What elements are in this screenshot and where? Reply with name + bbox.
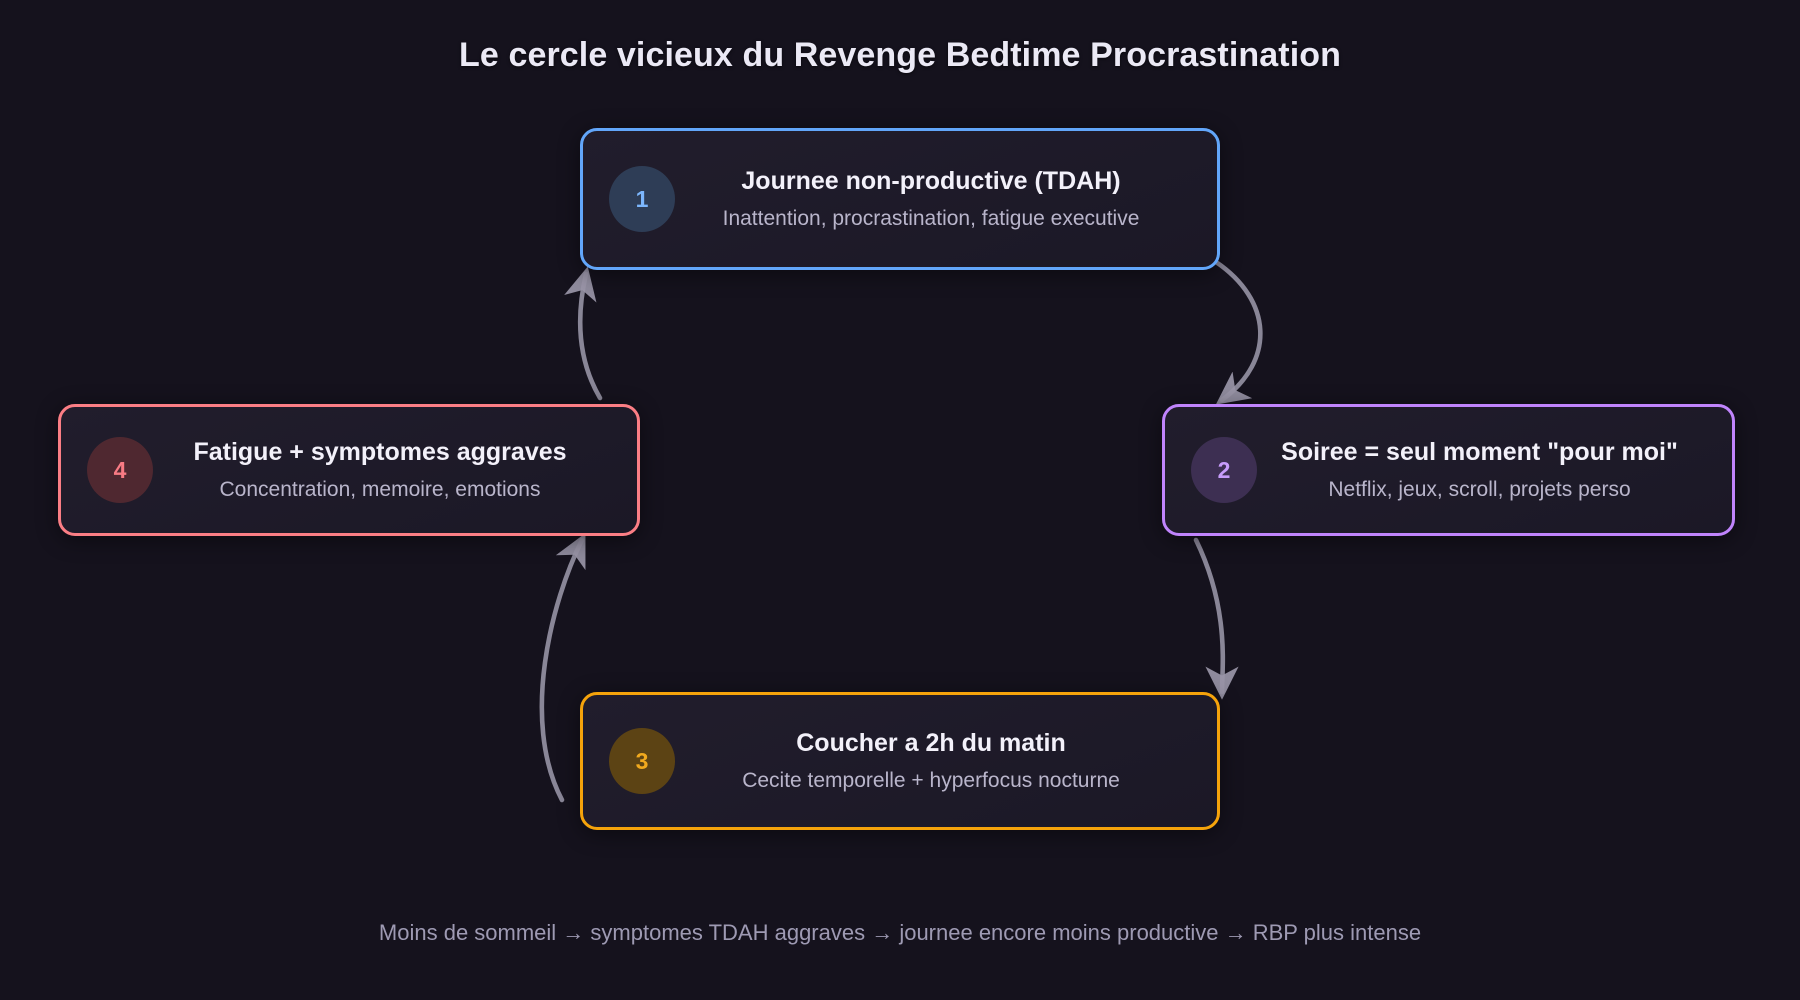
edge-2-to-3-arrow xyxy=(1196,540,1223,692)
node-4-number-badge: 4 xyxy=(87,437,153,503)
node-3-subtitle: Cecite temporelle + hyperfocus nocturne xyxy=(681,768,1181,794)
node-2-text: Soiree = seul moment "pour moi" Netflix,… xyxy=(1263,437,1706,504)
node-4-number: 4 xyxy=(114,457,127,484)
node-4-title: Fatigue + symptomes aggraves xyxy=(159,437,601,468)
cycle-node-1[interactable]: 1 Journee non-productive (TDAH) Inattent… xyxy=(580,128,1220,270)
node-1-subtitle: Inattention, procrastination, fatigue ex… xyxy=(681,206,1181,232)
cycle-node-3[interactable]: 3 Coucher a 2h du matin Cecite temporell… xyxy=(580,692,1220,830)
node-2-subtitle: Netflix, jeux, scroll, projets perso xyxy=(1263,477,1696,503)
node-1-title: Journee non-productive (TDAH) xyxy=(681,166,1181,197)
footer-note: Moins de sommeil → symptomes TDAH aggrav… xyxy=(0,920,1800,946)
node-2-number-badge: 2 xyxy=(1191,437,1257,503)
node-2-title: Soiree = seul moment "pour moi" xyxy=(1263,437,1696,468)
node-3-number: 3 xyxy=(636,748,649,775)
node-1-text: Journee non-productive (TDAH) Inattentio… xyxy=(681,166,1191,233)
node-3-number-badge: 3 xyxy=(609,728,675,794)
edge-3-to-4-arrow xyxy=(542,540,582,800)
cycle-node-4[interactable]: 4 Fatigue + symptomes aggraves Concentra… xyxy=(58,404,640,536)
node-2-number: 2 xyxy=(1218,457,1231,484)
node-4-text: Fatigue + symptomes aggraves Concentrati… xyxy=(159,437,611,504)
node-1-number-badge: 1 xyxy=(609,166,675,232)
cycle-node-2[interactable]: 2 Soiree = seul moment "pour moi" Netfli… xyxy=(1162,404,1735,536)
diagram-canvas: Le cercle vicieux du Revenge Bedtime Pro… xyxy=(0,0,1800,1000)
node-3-title: Coucher a 2h du matin xyxy=(681,728,1181,759)
node-3-text: Coucher a 2h du matin Cecite temporelle … xyxy=(681,728,1191,795)
node-1-number: 1 xyxy=(636,186,649,213)
node-4-subtitle: Concentration, memoire, emotions xyxy=(159,477,601,503)
page-title: Le cercle vicieux du Revenge Bedtime Pro… xyxy=(0,36,1800,75)
edge-4-to-1-arrow xyxy=(580,274,600,398)
edge-1-to-2-arrow xyxy=(1216,262,1260,400)
